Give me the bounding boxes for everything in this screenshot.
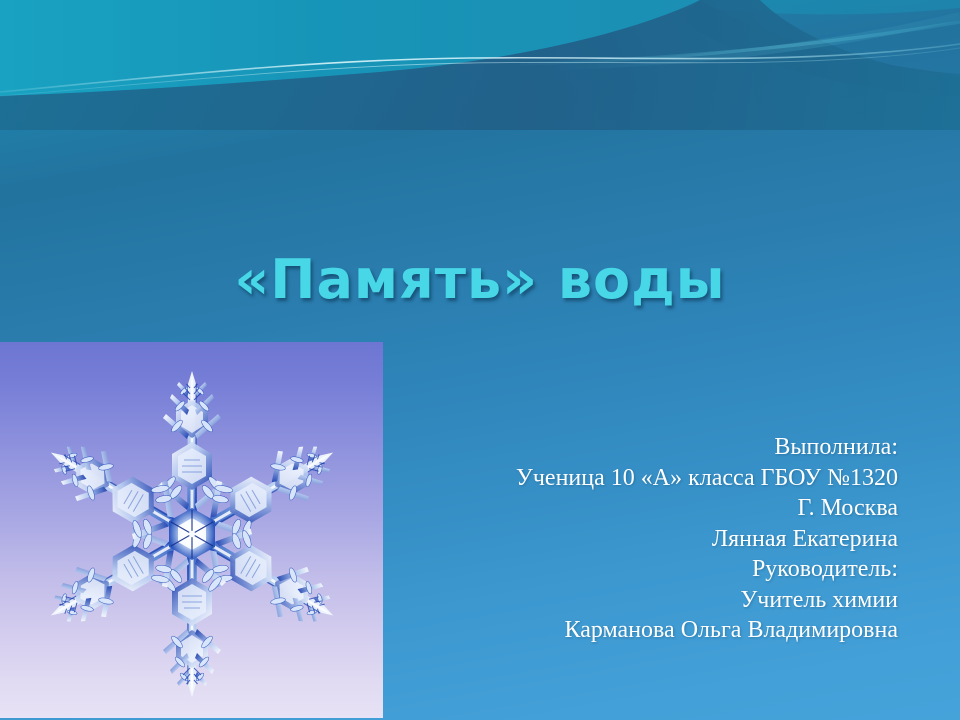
byline-line-6: Учитель химии xyxy=(378,585,898,616)
presentation-slide: «Память» воды Выполнила: Ученица 10 «А» … xyxy=(0,0,960,720)
slide-title: «Память» воды xyxy=(0,252,960,309)
byline-line-1: Выполнила: xyxy=(378,432,898,463)
author-block: Выполнила: Ученица 10 «А» класса ГБОУ №1… xyxy=(378,432,898,646)
snowflake-photo xyxy=(0,342,383,718)
snowflake-crystal-icon xyxy=(0,342,383,718)
flow-wave-band xyxy=(0,0,960,130)
byline-line-2: Ученица 10 «А» класса ГБОУ №1320 xyxy=(378,463,898,494)
byline-line-4: Лянная Екатерина xyxy=(378,524,898,555)
byline-line-3: Г. Москва xyxy=(378,493,898,524)
byline-line-5: Руководитель: xyxy=(378,554,898,585)
byline-line-7: Карманова Ольга Владимировна xyxy=(378,615,898,646)
